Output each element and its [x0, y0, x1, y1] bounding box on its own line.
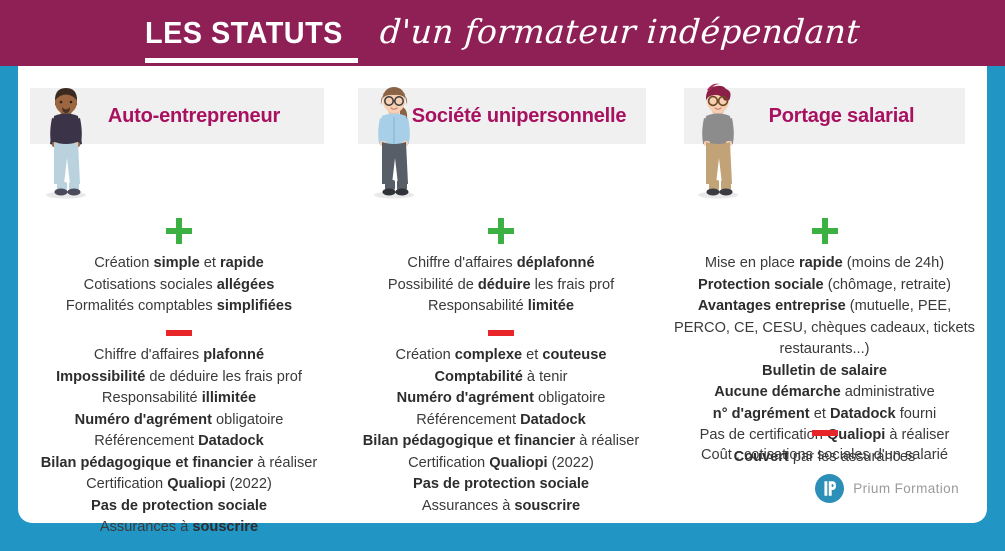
- list-item: Bilan pédagogique et financier à réalise…: [340, 431, 662, 453]
- list-item: Référencement Datadock: [18, 431, 340, 453]
- list-item: Bilan pédagogique et financier à réalise…: [18, 453, 340, 475]
- list-item: Pas de protection sociale: [340, 474, 662, 496]
- list-item: Numéro d'agrément obligatoire: [340, 388, 662, 410]
- pros-list-auto-entrepreneur: Création simple et rapideCotisations soc…: [18, 216, 340, 318]
- list-item: Responsabilité limitée: [340, 296, 662, 318]
- prium-logo-icon: [815, 474, 844, 503]
- plus-icon: [662, 216, 987, 246]
- list-item: Possibilité de déduire les frais prof: [340, 275, 662, 297]
- columns-container: Auto-entrepreneur: [18, 66, 987, 523]
- header-title-block: LES STATUTS: [145, 15, 358, 51]
- pros-list-societe-unipersonnelle: Chiffre d'affaires déplafonnéPossibilité…: [340, 216, 662, 318]
- minus-icon: [662, 428, 987, 438]
- list-item: Création simple et rapide: [18, 253, 340, 275]
- list-item: Création complexe et couteuse: [340, 345, 662, 367]
- list-item: Pas de protection sociale: [18, 496, 340, 518]
- list-item: Mise en place rapide (moins de 24h): [662, 253, 987, 275]
- plus-icon: [18, 216, 340, 246]
- minus-icon: [340, 328, 662, 338]
- list-item: n° d'agrément et Datadock fourni: [662, 404, 987, 426]
- minus-icon: [18, 328, 340, 338]
- cons-lines: Chiffre d'affaires plafonnéImpossibilité…: [18, 345, 340, 539]
- list-item: Comptabilité à tenir: [340, 367, 662, 389]
- brand-logo: Prium Formation: [815, 474, 959, 503]
- infographic-root: LES STATUTS d'un formateur indépendant A…: [0, 0, 1005, 551]
- title-underline: [145, 58, 358, 63]
- pros-lines: Chiffre d'affaires déplafonnéPossibilité…: [340, 253, 662, 318]
- list-item: Impossibilité de déduire les frais prof: [18, 367, 340, 389]
- page-header: LES STATUTS d'un formateur indépendant: [0, 0, 1005, 66]
- page-subtitle: d'un formateur indépendant: [379, 12, 862, 51]
- list-item: Bulletin de salaire: [662, 361, 987, 383]
- list-item: Chiffre d'affaires déplafonné: [340, 253, 662, 275]
- cons-lines: Coût : cotisations sociales d'un salarié: [662, 445, 987, 467]
- list-item: Avantages entreprise (mutuelle, PEE, PER…: [662, 296, 987, 361]
- column-portage-salarial: Portage salarial: [662, 66, 987, 523]
- list-item: Chiffre d'affaires plafonné: [18, 345, 340, 367]
- column-title: Auto-entrepreneur: [74, 105, 280, 128]
- cons-list-auto-entrepreneur: Chiffre d'affaires plafonnéImpossibilité…: [18, 328, 340, 539]
- list-item: Certification Qualiopi (2022): [18, 474, 340, 496]
- brand-name: Prium Formation: [853, 481, 959, 496]
- page-title: LES STATUTS: [145, 15, 343, 51]
- list-item: Coût : cotisations sociales d'un salarié: [662, 445, 987, 467]
- avatar-woman-blue-shirt: [364, 80, 424, 200]
- avatar-woman-red-hair: [688, 80, 748, 200]
- avatar-man-dark-shirt: [36, 80, 96, 200]
- column-societe-unipersonnelle: Société unipersonnelle: [340, 66, 662, 523]
- column-auto-entrepreneur: Auto-entrepreneur: [18, 66, 340, 523]
- cons-list-portage-salarial: Coût : cotisations sociales d'un salarié: [662, 428, 987, 467]
- list-item: Protection sociale (chômage, retraite): [662, 275, 987, 297]
- column-title: Portage salarial: [735, 105, 915, 128]
- list-item: Certification Qualiopi (2022): [340, 453, 662, 475]
- list-item: Cotisations sociales allégées: [18, 275, 340, 297]
- list-item: Assurances à souscrire: [18, 517, 340, 539]
- list-item: Responsabilité illimitée: [18, 388, 340, 410]
- cons-list-societe-unipersonnelle: Création complexe et couteuseComptabilit…: [340, 328, 662, 517]
- pros-lines: Création simple et rapideCotisations soc…: [18, 253, 340, 318]
- list-item: Assurances à souscrire: [340, 496, 662, 518]
- cons-lines: Création complexe et couteuseComptabilit…: [340, 345, 662, 517]
- list-item: Référencement Datadock: [340, 410, 662, 432]
- content-card: Auto-entrepreneur: [18, 66, 987, 523]
- list-item: Formalités comptables simplifiées: [18, 296, 340, 318]
- plus-icon: [340, 216, 662, 246]
- list-item: Numéro d'agrément obligatoire: [18, 410, 340, 432]
- list-item: Aucune démarche administrative: [662, 382, 987, 404]
